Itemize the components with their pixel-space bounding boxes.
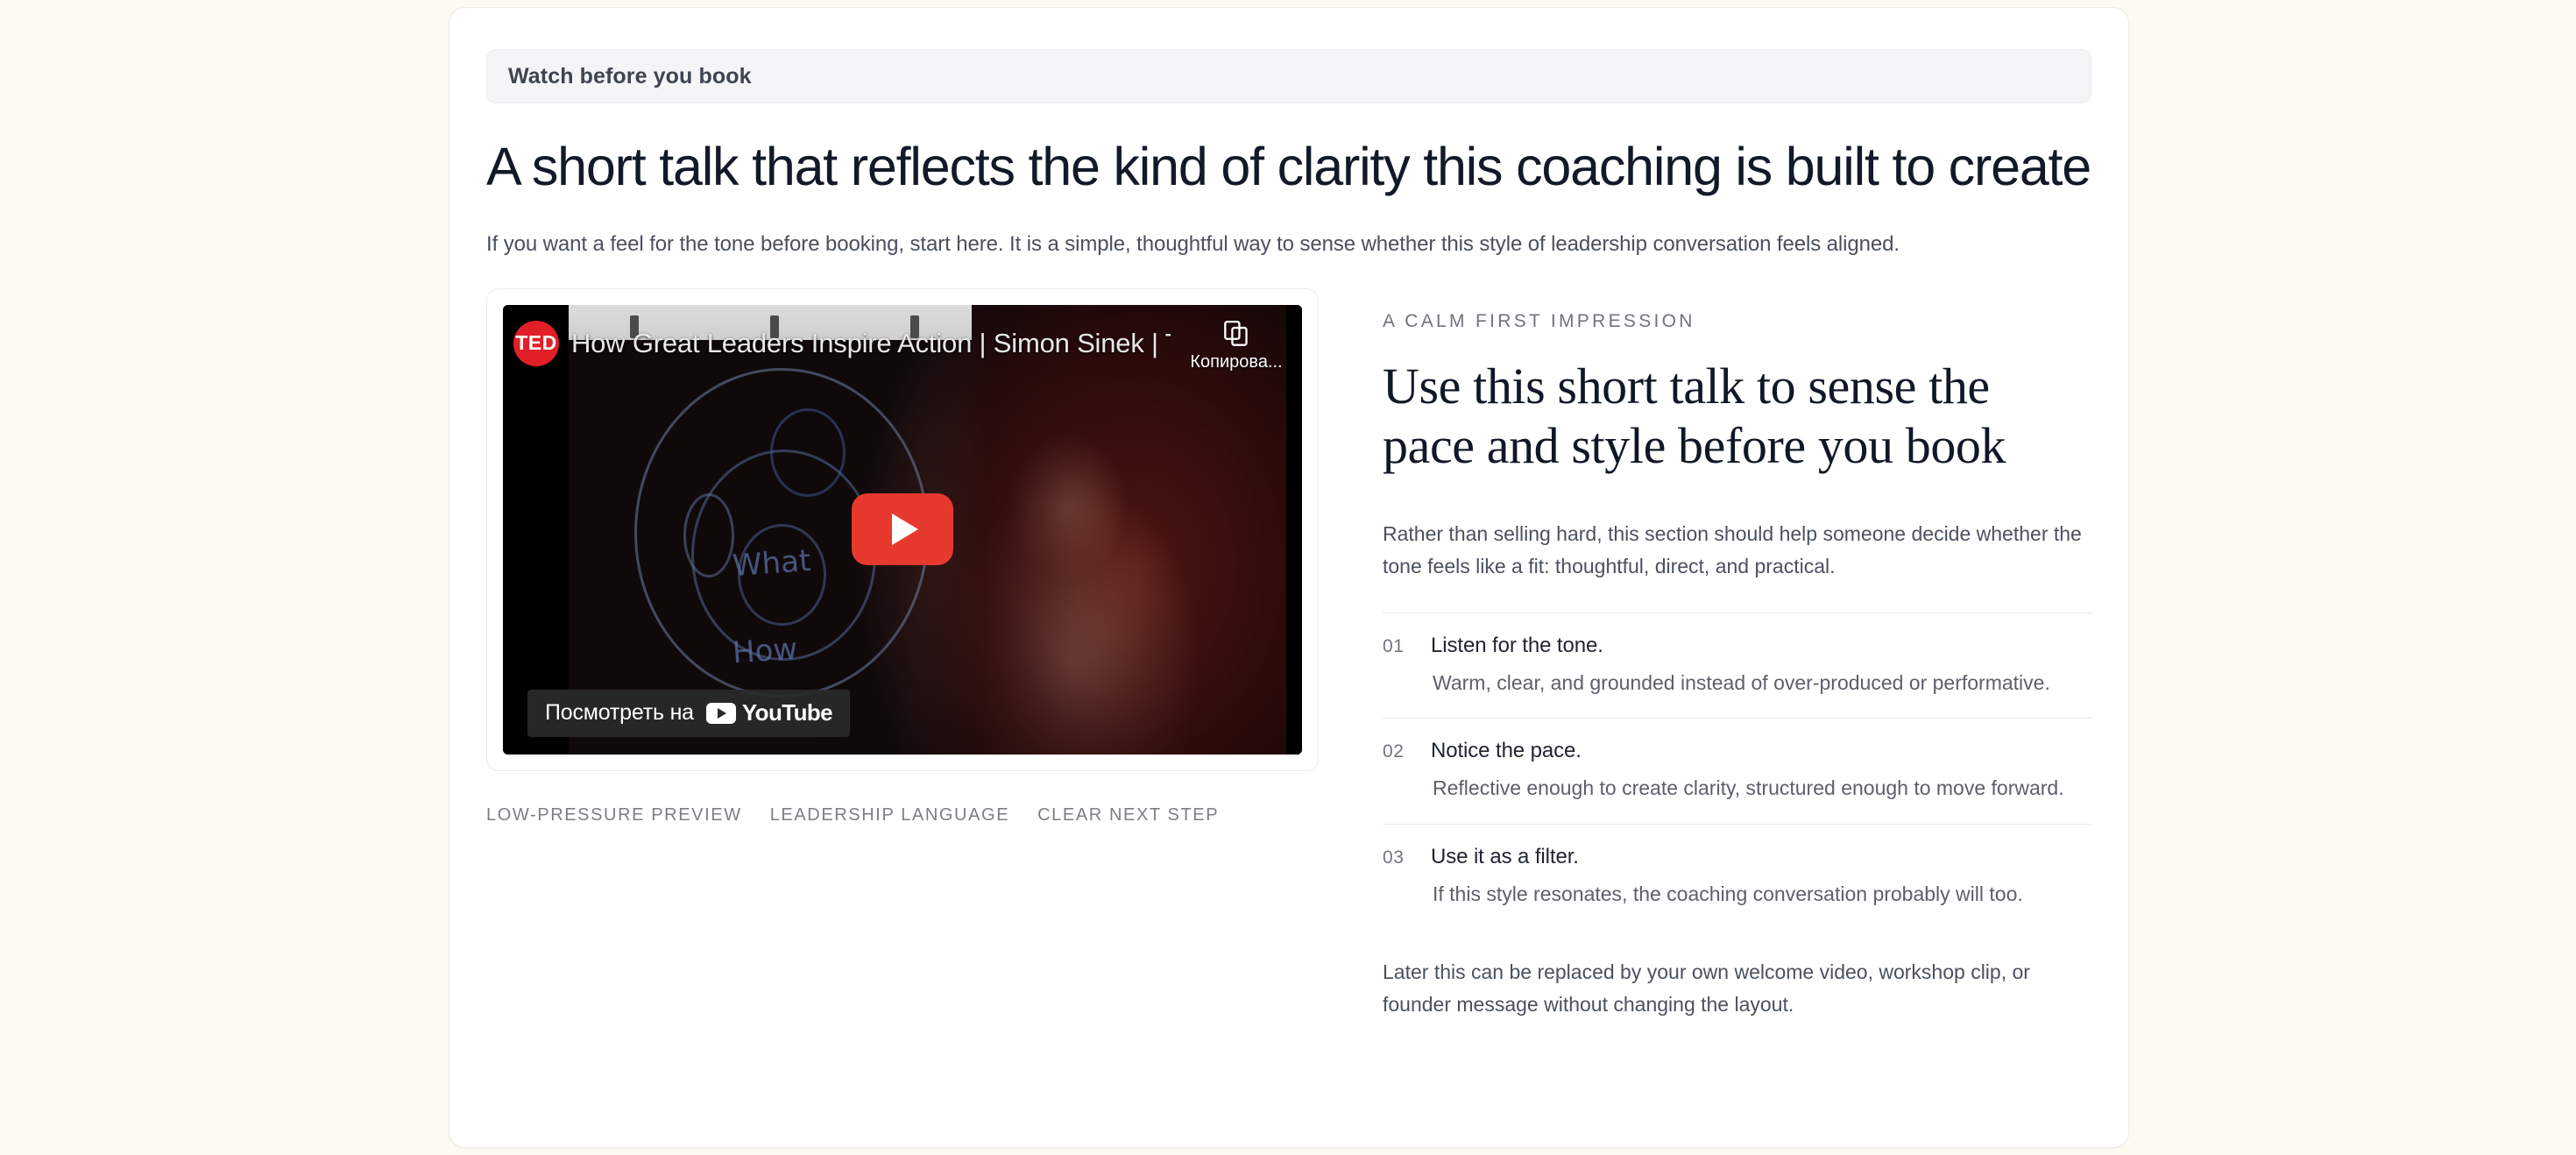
copy-icon [1224,321,1249,347]
step-title: Listen for the tone. [1431,634,2091,658]
section-title: Use this short talk to sense the pace an… [1383,357,2091,476]
step-number: 03 [1383,845,1431,910]
section-intro: Rather than selling hard, this section s… [1383,518,2091,584]
youtube-wordmark: YouTube [742,699,832,726]
youtube-play-triangle [718,708,726,719]
video-letterbox-left [503,305,569,755]
step-number: 01 [1383,634,1431,698]
sketch-circle [683,493,734,577]
video-column: What How TED How Great Leaders Inspire A… [486,288,1319,826]
step-description: Reflective enough to create clarity, str… [1433,772,2091,804]
tag-low-pressure-preview: LOW-PRESSURE PREVIEW [486,805,742,826]
steps-list: 01 Listen for the tone. Warm, clear, and… [1383,613,2091,929]
video-frame: What How TED How Great Leaders Inspire A… [486,288,1319,771]
page-title: A short talk that reflects the kind of c… [486,138,2091,196]
list-item: 03 Use it as a filter. If this style res… [1383,824,2091,929]
video-title[interactable]: How Great Leaders Inspire Action | Simon… [571,328,1171,359]
step-body: Use it as a filter. If this style resona… [1431,845,2091,910]
watch-on-youtube-button[interactable]: Посмотреть на YouTube [527,690,850,737]
step-number: 02 [1383,739,1431,804]
step-body: Notice the pace. Reflective enough to cr… [1431,739,2091,804]
video-letterbox-right [1286,305,1302,755]
card-inner: Watch before you book A short talk that … [449,8,2128,1041]
content-card: Watch before you book A short talk that … [449,7,2129,1148]
youtube-play-icon [706,703,736,724]
play-triangle [892,514,918,545]
list-item: 01 Listen for the tone. Warm, clear, and… [1383,613,2091,718]
section-badge: Watch before you book [486,49,2091,103]
details-column: A CALM FIRST IMPRESSION Use this short t… [1319,288,2091,1041]
step-description: If this style resonates, the coaching co… [1433,878,2091,910]
page-subtitle: If you want a feel for the tone before b… [486,232,2091,257]
ted-logo-icon: TED [513,321,559,366]
video-share-label: Копирова... [1190,352,1282,372]
video-player[interactable]: What How TED How Great Leaders Inspire A… [503,305,1302,755]
youtube-logo: YouTube [706,699,832,726]
sketch-word-what: What [732,543,812,584]
step-title: Use it as a filter. [1431,845,2091,869]
sketch-word-how: How [732,631,799,670]
section-footnote: Later this can be replaced by your own w… [1383,956,2075,1021]
step-title: Notice the pace. [1431,739,2091,763]
watch-on-youtube-label: Посмотреть на [545,700,694,726]
tag-list: LOW-PRESSURE PREVIEW LEADERSHIP LANGUAGE… [486,805,1319,826]
page-root: Watch before you book A short talk that … [0,0,2576,1155]
video-share-button[interactable]: Копирова... [1188,321,1284,372]
tag-leadership-language: LEADERSHIP LANGUAGE [770,805,1009,826]
step-body: Listen for the tone. Warm, clear, and gr… [1431,634,2091,698]
content-columns: What How TED How Great Leaders Inspire A… [486,288,2091,1041]
play-icon[interactable] [852,493,953,565]
list-item: 02 Notice the pace. Reflective enough to… [1383,718,2091,823]
tag-clear-next-step: CLEAR NEXT STEP [1037,805,1219,826]
section-badge-label: Watch before you book [508,64,752,89]
step-description: Warm, clear, and grounded instead of ove… [1433,667,2091,698]
section-eyebrow: A CALM FIRST IMPRESSION [1383,311,2091,332]
sketch-circle [770,408,846,497]
